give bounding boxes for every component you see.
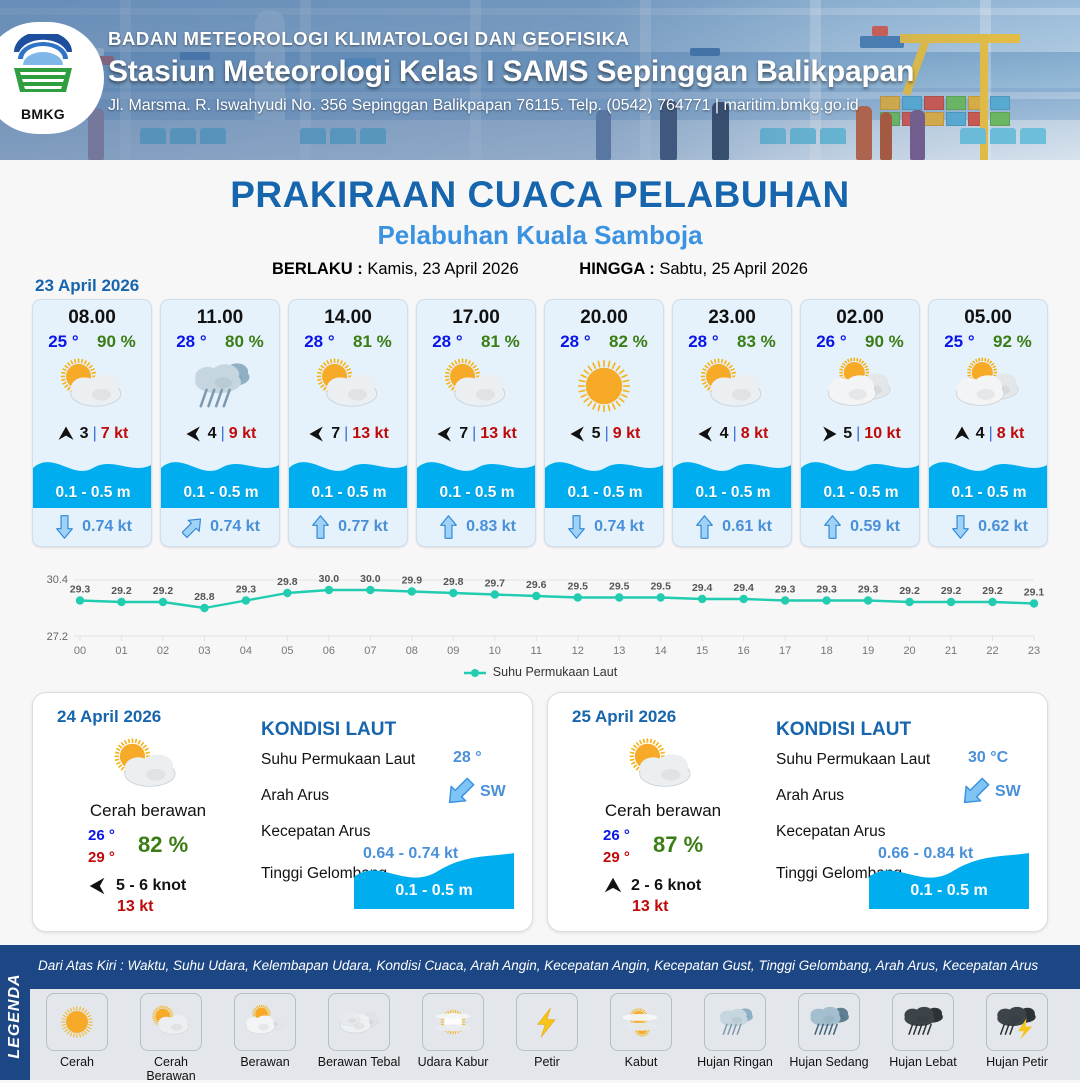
legend-side-label: LEGENDA xyxy=(6,963,24,1069)
daily-forecast-row: 24 April 2026 Cerah berawan 26 ° 29 ° 82… xyxy=(32,692,1048,932)
hourly-date-label: 23 April 2026 xyxy=(35,276,139,296)
current-direction-S-icon xyxy=(950,514,971,540)
panel-temp-min: 26 ° xyxy=(88,825,115,847)
card-wind-speed: 3 xyxy=(80,425,89,443)
svg-text:12: 12 xyxy=(572,645,584,657)
current-direction-value-row: SW xyxy=(958,775,1021,809)
svg-text:05: 05 xyxy=(281,645,293,657)
valid-from-label: BERLAKU : xyxy=(272,260,363,278)
card-wave-height: 0.1 - 0.5 m xyxy=(673,484,792,502)
svg-text:02: 02 xyxy=(157,645,169,657)
card-temperature: 25 ° xyxy=(944,332,974,352)
sst-label: Suhu Permukaan Laut xyxy=(261,751,415,769)
svg-text:29.1: 29.1 xyxy=(1024,587,1045,599)
card-separator: | xyxy=(989,425,993,443)
svg-text:27.2: 27.2 xyxy=(47,631,68,643)
panel-wave-box: 0.1 - 0.5 m xyxy=(354,851,514,909)
berawan-tebal-icon xyxy=(330,997,388,1047)
wind-direction-E-icon xyxy=(184,424,204,444)
svg-text:29.6: 29.6 xyxy=(526,579,547,591)
card-current-speed: 0.59 kt xyxy=(850,518,900,536)
hourly-card[interactable]: 08.00 25 ° 90 % 3 | 7 kt 0.1 - 0.5 m xyxy=(32,299,152,547)
card-temp-hum-row: 28 ° 81 % xyxy=(417,332,535,352)
svg-text:14: 14 xyxy=(655,645,667,657)
card-wave-zone: 0.1 - 0.5 m xyxy=(545,446,664,508)
card-weather-icon xyxy=(545,354,663,418)
card-humidity: 82 % xyxy=(609,332,648,352)
card-current-row: 0.62 kt xyxy=(929,508,1048,546)
card-current-row: 0.59 kt xyxy=(801,508,920,546)
cerah-berawan-icon xyxy=(606,735,716,797)
cerah-berawan-icon xyxy=(91,735,201,797)
legend-item-label: Cerah Berawan xyxy=(128,1055,214,1083)
panel-temp-range: 26 ° 29 ° xyxy=(603,825,630,869)
daily-forecast-panel[interactable]: 24 April 2026 Cerah berawan 26 ° 29 ° 82… xyxy=(32,692,533,932)
wave-shape-icon xyxy=(354,851,514,909)
hourly-forecast-row: 08.00 25 ° 90 % 3 | 7 kt 0.1 - 0.5 m xyxy=(32,299,1048,547)
panel-temp-max: 29 ° xyxy=(603,847,630,869)
card-wind-row: 4 | 8 kt xyxy=(673,424,791,444)
hujan-lebat-icon xyxy=(894,997,952,1047)
legend-icon-box xyxy=(234,993,296,1051)
card-weather-icon xyxy=(673,354,791,418)
svg-text:29.2: 29.2 xyxy=(899,585,920,597)
card-wave-height: 0.1 - 0.5 m xyxy=(801,484,920,502)
card-wave-zone: 0.1 - 0.5 m xyxy=(673,446,792,508)
svg-text:29.8: 29.8 xyxy=(277,576,298,588)
card-temperature: 25 ° xyxy=(48,332,78,352)
current-direction-N-icon xyxy=(822,514,843,540)
legend-item: Hujan Ringan xyxy=(692,993,778,1083)
card-wind-row: 4 | 9 kt xyxy=(161,424,279,444)
current-speed-label: Kecepatan Arus xyxy=(776,823,885,841)
panel-temp-min: 26 ° xyxy=(603,825,630,847)
legend-icon-box xyxy=(328,993,390,1051)
card-wave-zone: 0.1 - 0.5 m xyxy=(929,446,1048,508)
svg-text:00: 00 xyxy=(74,645,86,657)
panel-weather-icon xyxy=(91,735,201,797)
card-temperature: 28 ° xyxy=(688,332,718,352)
card-humidity: 83 % xyxy=(737,332,776,352)
card-current-row: 0.74 kt xyxy=(33,508,152,546)
legend-marker-icon xyxy=(463,667,487,677)
cerah-icon xyxy=(48,997,106,1047)
card-humidity: 92 % xyxy=(993,332,1032,352)
petir-icon xyxy=(518,997,576,1047)
udara-kabur-icon xyxy=(424,997,482,1047)
current-direction-value: SW xyxy=(480,783,506,801)
hujan-petir-icon xyxy=(988,997,1046,1047)
svg-text:18: 18 xyxy=(820,645,832,657)
current-direction-N-icon xyxy=(694,514,715,540)
legend-item-label: Berawan Tebal xyxy=(316,1055,402,1069)
cerah-berawan-icon xyxy=(428,355,524,417)
wind-direction-E-icon xyxy=(568,424,588,444)
sst-chart-plot: 30.427.229.30029.20129.20228.80329.30429… xyxy=(28,558,1052,663)
panel-wind-range: 5 - 6 knot xyxy=(116,877,186,895)
svg-text:29.7: 29.7 xyxy=(485,578,506,590)
legend-item: Hujan Sedang xyxy=(786,993,872,1083)
sst-label: Suhu Permukaan Laut xyxy=(776,751,930,769)
current-direction-NE-icon xyxy=(182,514,203,540)
panel-wave-height: 0.1 - 0.5 m xyxy=(354,882,514,900)
panel-condition: Cerah berawan xyxy=(53,801,243,821)
card-humidity: 81 % xyxy=(481,332,520,352)
card-wave-height: 0.1 - 0.5 m xyxy=(929,484,1048,502)
card-weather-icon xyxy=(801,354,919,418)
svg-text:15: 15 xyxy=(696,645,708,657)
card-gust: 13 kt xyxy=(352,425,388,443)
card-time: 05.00 xyxy=(929,307,1047,329)
berawan-icon xyxy=(812,355,908,417)
card-wind-speed: 5 xyxy=(843,425,852,443)
card-gust: 9 kt xyxy=(229,425,257,443)
card-temperature: 26 ° xyxy=(816,332,846,352)
svg-text:04: 04 xyxy=(240,645,252,657)
svg-text:09: 09 xyxy=(447,645,459,657)
validity-row: BERLAKU : Kamis, 23 April 2026 HINGGA : … xyxy=(0,260,1080,279)
hourly-card[interactable]: 02.00 26 ° 90 % 5 | 10 kt 0.1 - 0.5 m xyxy=(800,299,920,547)
card-temp-hum-row: 28 ° 81 % xyxy=(289,332,407,352)
card-wind-speed: 5 xyxy=(592,425,601,443)
legend-icon-box xyxy=(892,993,954,1051)
card-wind-speed: 4 xyxy=(976,425,985,443)
kabut-icon xyxy=(612,997,670,1047)
card-current-row: 0.61 kt xyxy=(673,508,792,546)
hourly-card[interactable]: 23.00 28 ° 83 % 4 | 8 kt 0.1 - 0.5 m xyxy=(672,299,792,547)
legend-icon-box xyxy=(798,993,860,1051)
card-time: 11.00 xyxy=(161,307,279,329)
card-weather-icon xyxy=(417,354,535,418)
legend-item: Cerah xyxy=(34,993,120,1083)
card-wave-height: 0.1 - 0.5 m xyxy=(545,484,664,502)
card-wave-height: 0.1 - 0.5 m xyxy=(161,484,280,502)
card-temperature: 28 ° xyxy=(304,332,334,352)
card-wind-row: 7 | 13 kt xyxy=(289,424,407,444)
panel-temp-max: 29 ° xyxy=(88,847,115,869)
sea-conditions-title: KONDISI LAUT xyxy=(261,719,396,741)
card-wind-row: 7 | 13 kt xyxy=(417,424,535,444)
svg-text:29.2: 29.2 xyxy=(111,585,132,597)
card-separator: | xyxy=(344,425,348,443)
card-temp-hum-row: 25 ° 92 % xyxy=(929,332,1047,352)
wind-direction-E-icon xyxy=(87,875,109,897)
valid-from-value: Kamis, 23 April 2026 xyxy=(367,260,518,278)
valid-until-label: HINGGA : xyxy=(579,260,654,278)
card-humidity: 90 % xyxy=(865,332,904,352)
card-separator: | xyxy=(93,425,97,443)
hujan-ringan-icon xyxy=(706,997,764,1047)
svg-text:28.8: 28.8 xyxy=(194,591,215,603)
card-gust: 8 kt xyxy=(741,425,769,443)
svg-text:22: 22 xyxy=(986,645,998,657)
svg-text:29.3: 29.3 xyxy=(816,584,837,596)
legend-icon-box xyxy=(986,993,1048,1051)
svg-text:29.9: 29.9 xyxy=(402,575,423,587)
legend-item: Udara Kabur xyxy=(410,993,496,1083)
card-current-speed: 0.62 kt xyxy=(978,518,1028,536)
svg-text:29.3: 29.3 xyxy=(858,584,879,596)
station-address: Jl. Marsma. R. Iswahyudi No. 356 Sepingg… xyxy=(108,97,1058,115)
cerah-berawan-icon xyxy=(684,355,780,417)
card-wave-zone: 0.1 - 0.5 m xyxy=(417,446,536,508)
card-temperature: 28 ° xyxy=(176,332,206,352)
card-wave-zone: 0.1 - 0.5 m xyxy=(289,446,408,508)
svg-text:11: 11 xyxy=(531,645,542,657)
card-weather-icon xyxy=(33,354,151,418)
svg-text:29.3: 29.3 xyxy=(236,584,257,596)
panel-wind-row: 2 - 6 knot xyxy=(602,875,701,897)
cerah-icon xyxy=(556,355,652,417)
card-current-row: 0.74 kt xyxy=(161,508,280,546)
card-wave-zone: 0.1 - 0.5 m xyxy=(33,446,152,508)
svg-text:29.2: 29.2 xyxy=(982,585,1003,597)
card-current-row: 0.83 kt xyxy=(417,508,536,546)
wind-direction-E-icon xyxy=(435,424,455,444)
svg-text:29.5: 29.5 xyxy=(650,581,671,593)
svg-text:19: 19 xyxy=(862,645,874,657)
svg-text:20: 20 xyxy=(903,645,915,657)
card-temp-hum-row: 28 ° 80 % xyxy=(161,332,279,352)
card-separator: | xyxy=(221,425,225,443)
legend-item: Hujan Lebat xyxy=(880,993,966,1083)
legend-item: Berawan xyxy=(222,993,308,1083)
wind-direction-E-icon xyxy=(696,424,716,444)
legend-icon-box xyxy=(422,993,484,1051)
cerah-berawan-icon xyxy=(300,355,396,417)
legend-item-label: Hujan Lebat xyxy=(880,1055,966,1069)
legend-item-label: Hujan Ringan xyxy=(692,1055,778,1069)
legend-icon-box xyxy=(46,993,108,1051)
hourly-card[interactable]: 20.00 28 ° 82 % 5 | 9 kt 0.1 - 0.5 m 0.7… xyxy=(544,299,664,547)
hourly-card[interactable]: 11.00 28 ° 80 % 4 | 9 kt 0.1 - 0.5 m xyxy=(160,299,280,547)
card-temp-hum-row: 28 ° 83 % xyxy=(673,332,791,352)
card-wave-height: 0.1 - 0.5 m xyxy=(33,484,152,502)
current-direction-SW-icon xyxy=(443,775,477,809)
card-wind-row: 5 | 9 kt xyxy=(545,424,663,444)
card-temp-hum-row: 25 ° 90 % xyxy=(33,332,151,352)
legend-item: Kabut xyxy=(598,993,684,1083)
berawan-icon xyxy=(236,997,294,1047)
chart-legend: Suhu Permukaan Laut xyxy=(28,665,1052,679)
card-current-speed: 0.61 kt xyxy=(722,518,772,536)
svg-text:29.2: 29.2 xyxy=(941,585,962,597)
card-weather-icon xyxy=(929,354,1047,418)
panel-humidity: 87 % xyxy=(653,832,703,858)
legend-icon-box xyxy=(704,993,766,1051)
card-temp-hum-row: 28 ° 82 % xyxy=(545,332,663,352)
legend-item-label: Kabut xyxy=(598,1055,684,1069)
legend-item-label: Udara Kabur xyxy=(410,1055,496,1069)
card-current-row: 0.74 kt xyxy=(545,508,664,546)
svg-text:29.5: 29.5 xyxy=(568,581,589,593)
svg-text:29.3: 29.3 xyxy=(70,584,91,596)
svg-text:23: 23 xyxy=(1028,645,1040,657)
svg-text:08: 08 xyxy=(406,645,418,657)
svg-text:29.4: 29.4 xyxy=(733,582,754,594)
card-wind-speed: 7 xyxy=(459,425,468,443)
card-weather-icon xyxy=(289,354,407,418)
wave-shape-icon xyxy=(869,851,1029,909)
card-wave-zone: 0.1 - 0.5 m xyxy=(801,446,920,508)
card-wind-row: 5 | 10 kt xyxy=(801,424,919,444)
card-gust: 13 kt xyxy=(480,425,516,443)
panel-humidity: 82 % xyxy=(138,832,188,858)
card-temperature: 28 ° xyxy=(432,332,462,352)
panel-gust: 13 kt xyxy=(632,898,668,916)
svg-text:07: 07 xyxy=(364,645,376,657)
valid-from: BERLAKU : Kamis, 23 April 2026 xyxy=(272,260,519,279)
card-time: 14.00 xyxy=(289,307,407,329)
legend-item-label: Cerah xyxy=(34,1055,120,1069)
cerah-berawan-icon xyxy=(142,997,200,1047)
card-time: 02.00 xyxy=(801,307,919,329)
card-gust: 8 kt xyxy=(997,425,1025,443)
card-time: 17.00 xyxy=(417,307,535,329)
hujan-ringan-icon xyxy=(172,355,268,417)
card-current-row: 0.77 kt xyxy=(289,508,408,546)
svg-text:30.0: 30.0 xyxy=(360,573,381,585)
legend-item: Cerah Berawan xyxy=(128,993,214,1083)
current-direction-label: Arah Arus xyxy=(261,787,329,805)
legend-item: Petir xyxy=(504,993,590,1083)
panel-weather-icon xyxy=(606,735,716,797)
card-weather-icon xyxy=(161,354,279,418)
svg-text:30.4: 30.4 xyxy=(47,574,68,586)
current-speed-label: Kecepatan Arus xyxy=(261,823,370,841)
svg-text:29.4: 29.4 xyxy=(692,582,713,594)
svg-text:30.0: 30.0 xyxy=(319,573,340,585)
svg-text:29.3: 29.3 xyxy=(775,584,796,596)
page-subtitle: Pelabuhan Kuala Samboja xyxy=(0,220,1080,251)
card-gust: 9 kt xyxy=(613,425,641,443)
page-title-block: PRAKIRAAN CUACA PELABUHAN Pelabuhan Kual… xyxy=(0,160,1080,279)
legend-note: Dari Atas Kiri : Waktu, Suhu Udara, Kele… xyxy=(38,958,1038,973)
current-direction-S-icon xyxy=(566,514,587,540)
card-separator: | xyxy=(856,425,860,443)
svg-text:10: 10 xyxy=(489,645,501,657)
sst-value: 28 ° xyxy=(453,749,482,767)
card-wind-speed: 4 xyxy=(208,425,217,443)
current-direction-value-row: SW xyxy=(443,775,506,809)
legend-items: Cerah Cerah Berawan Berawan Berawan xyxy=(34,993,1080,1083)
panel-temp-range: 26 ° 29 ° xyxy=(88,825,115,869)
panel-wind-row: 5 - 6 knot xyxy=(87,875,186,897)
card-wind-speed: 7 xyxy=(331,425,340,443)
legend-bar: Dari Atas Kiri : Waktu, Suhu Udara, Kele… xyxy=(0,945,1080,1080)
current-direction-N-icon xyxy=(310,514,331,540)
valid-until: HINGGA : Sabtu, 25 April 2026 xyxy=(579,260,808,279)
card-temperature: 28 ° xyxy=(560,332,590,352)
card-time: 20.00 xyxy=(545,307,663,329)
page-title: PRAKIRAAN CUACA PELABUHAN xyxy=(0,174,1080,216)
bmkg-emblem-icon xyxy=(10,34,76,96)
card-humidity: 81 % xyxy=(353,332,392,352)
card-wind-speed: 4 xyxy=(720,425,729,443)
hourly-card[interactable]: 17.00 28 ° 81 % 7 | 13 kt 0.1 - 0.5 m xyxy=(416,299,536,547)
card-wind-row: 3 | 7 kt xyxy=(33,424,151,444)
legend-icon-box xyxy=(610,993,672,1051)
panel-condition: Cerah berawan xyxy=(568,801,758,821)
sea-conditions-title: KONDISI LAUT xyxy=(776,719,911,741)
panel-date: 25 April 2026 xyxy=(572,707,676,727)
panel-wave-height: 0.1 - 0.5 m xyxy=(869,882,1029,900)
svg-text:17: 17 xyxy=(779,645,791,657)
svg-text:03: 03 xyxy=(198,645,210,657)
card-time: 23.00 xyxy=(673,307,791,329)
current-direction-N-icon xyxy=(438,514,459,540)
card-separator: | xyxy=(472,425,476,443)
legend-icon-box xyxy=(140,993,202,1051)
panel-date: 24 April 2026 xyxy=(57,707,161,727)
card-wind-row: 4 | 8 kt xyxy=(929,424,1047,444)
valid-until-value: Sabtu, 25 April 2026 xyxy=(659,260,808,278)
hourly-card[interactable]: 14.00 28 ° 81 % 7 | 13 kt 0.1 - 0.5 m xyxy=(288,299,408,547)
panel-wave-box: 0.1 - 0.5 m xyxy=(869,851,1029,909)
station-name: Stasiun Meteorologi Kelas I SAMS Sepingg… xyxy=(108,55,1058,89)
svg-text:13: 13 xyxy=(613,645,625,657)
svg-text:16: 16 xyxy=(738,645,750,657)
card-gust: 10 kt xyxy=(864,425,900,443)
hourly-card[interactable]: 05.00 25 ° 92 % 4 | 8 kt 0.1 - 0.5 m xyxy=(928,299,1048,547)
agency-name: BADAN METEOROLOGI KLIMATOLOGI DAN GEOFIS… xyxy=(108,28,1058,50)
card-gust: 7 kt xyxy=(101,425,129,443)
card-separator: | xyxy=(605,425,609,443)
legend-icon-box xyxy=(516,993,578,1051)
svg-text:06: 06 xyxy=(323,645,335,657)
svg-text:29.2: 29.2 xyxy=(153,585,174,597)
svg-text:29.5: 29.5 xyxy=(609,581,630,593)
wind-direction-S-icon xyxy=(56,424,76,444)
wind-direction-S-icon xyxy=(952,424,972,444)
card-separator: | xyxy=(733,425,737,443)
card-wave-height: 0.1 - 0.5 m xyxy=(417,484,536,502)
chart-legend-label: Suhu Permukaan Laut xyxy=(493,665,617,679)
legend-side-tab: LEGENDA xyxy=(0,945,30,1080)
svg-text:29.8: 29.8 xyxy=(443,576,464,588)
current-direction-label: Arah Arus xyxy=(776,787,844,805)
sst-chart: 30.427.229.30029.20129.20228.80329.30429… xyxy=(28,558,1052,688)
card-time: 08.00 xyxy=(33,307,151,329)
legend-item-label: Berawan xyxy=(222,1055,308,1069)
bmkg-logo-text: BMKG xyxy=(4,106,82,122)
daily-forecast-panel[interactable]: 25 April 2026 Cerah berawan 26 ° 29 ° 87… xyxy=(547,692,1048,932)
legend-item-label: Petir xyxy=(504,1055,590,1069)
card-current-speed: 0.74 kt xyxy=(82,518,132,536)
panel-wind-range: 2 - 6 knot xyxy=(631,877,701,895)
card-current-speed: 0.77 kt xyxy=(338,518,388,536)
svg-text:21: 21 xyxy=(945,645,957,657)
card-current-speed: 0.74 kt xyxy=(210,518,260,536)
card-humidity: 80 % xyxy=(225,332,264,352)
current-direction-S-icon xyxy=(54,514,75,540)
wind-direction-S-icon xyxy=(602,875,624,897)
current-direction-value: SW xyxy=(995,783,1021,801)
svg-text:01: 01 xyxy=(115,645,127,657)
wind-direction-W-icon xyxy=(819,424,839,444)
berawan-icon xyxy=(940,355,1036,417)
legend-item: Berawan Tebal xyxy=(316,993,402,1083)
legend-item-label: Hujan Sedang xyxy=(786,1055,872,1069)
card-temp-hum-row: 26 ° 90 % xyxy=(801,332,919,352)
legend-item: Hujan Petir xyxy=(974,993,1060,1083)
card-wave-zone: 0.1 - 0.5 m xyxy=(161,446,280,508)
legend-item-label: Hujan Petir xyxy=(974,1055,1060,1069)
card-current-speed: 0.83 kt xyxy=(466,518,516,536)
current-direction-SW-icon xyxy=(958,775,992,809)
sst-value: 30 °C xyxy=(968,749,1008,767)
card-humidity: 90 % xyxy=(97,332,136,352)
